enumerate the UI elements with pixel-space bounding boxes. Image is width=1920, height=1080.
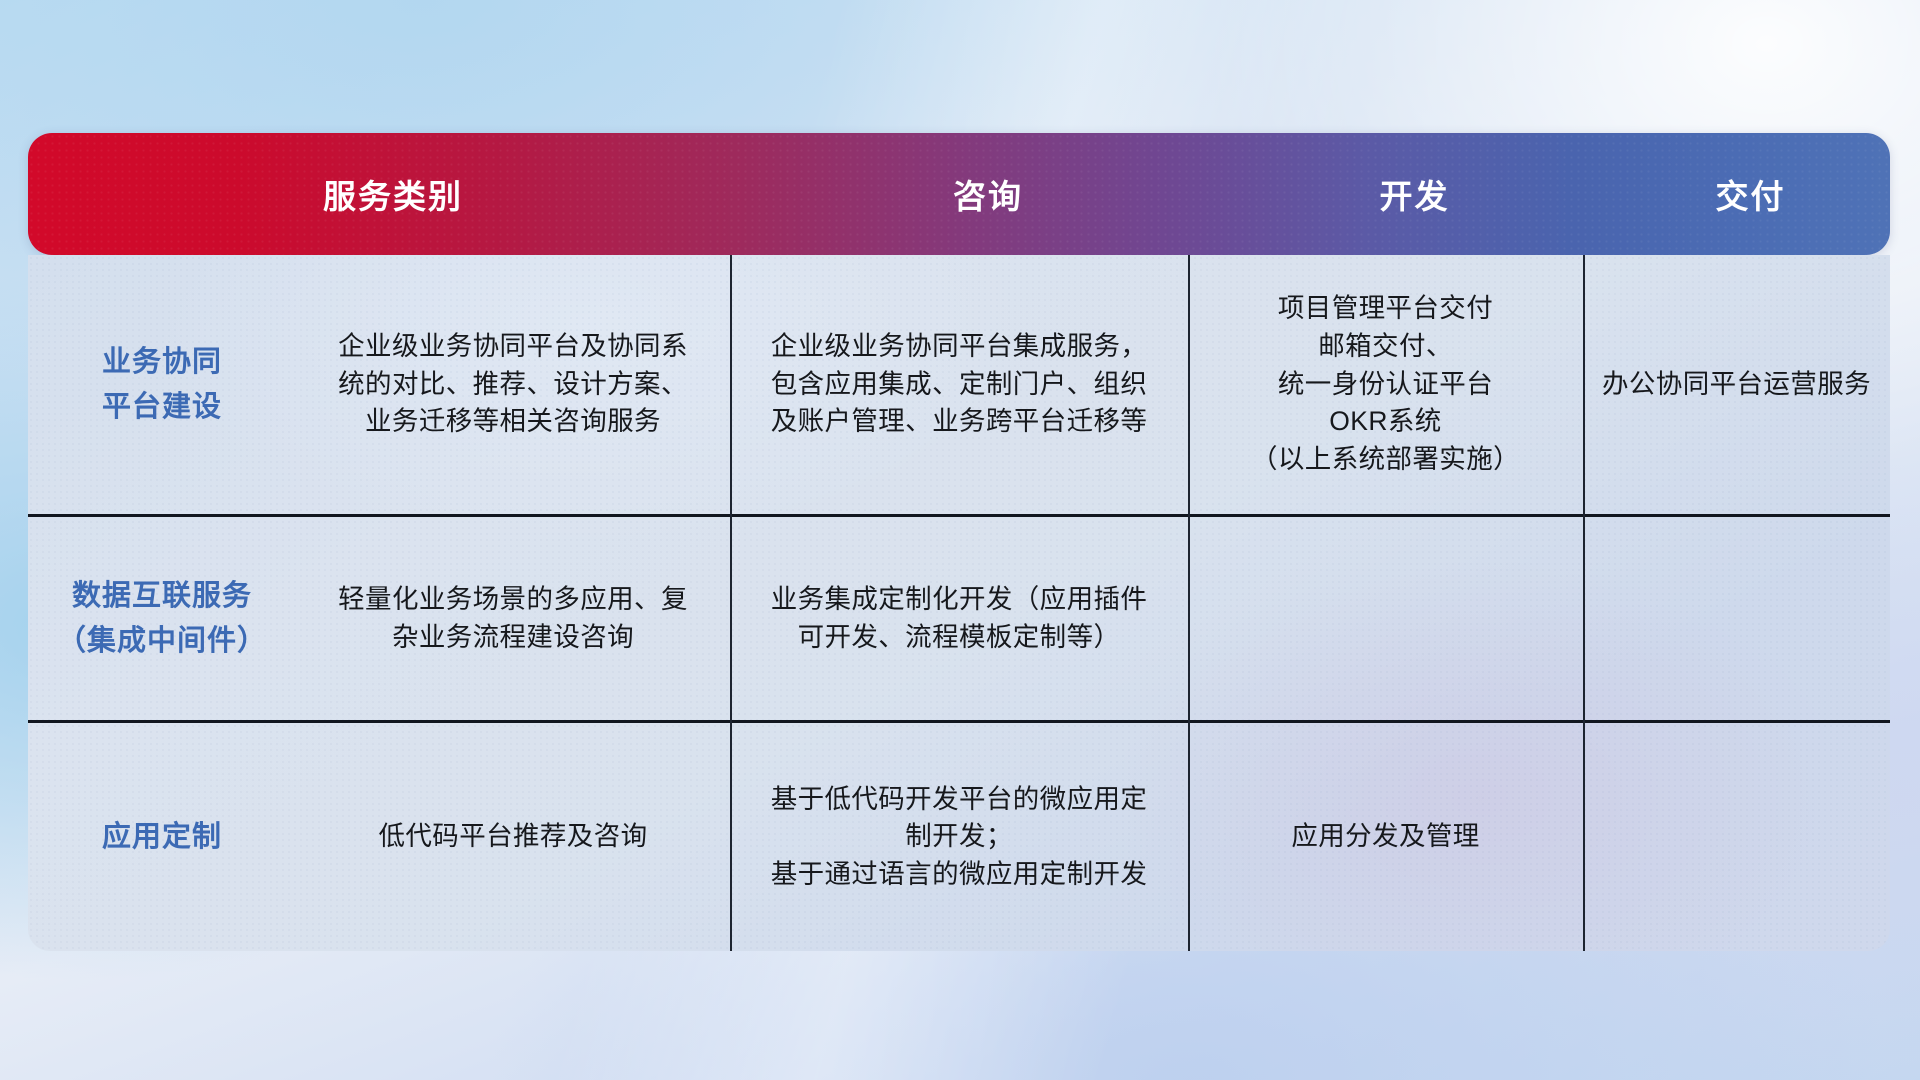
cell-consulting: 轻量化业务场景的多应用、复 杂业务流程建设咨询 (296, 517, 730, 720)
cell-consulting: 低代码平台推荐及咨询 (296, 723, 730, 951)
row-category-label: 业务协同 平台建设 (102, 340, 222, 428)
cell-operations: 办公协同平台运营服务 (1583, 255, 1890, 514)
column-header-delivery: 交付 (1611, 170, 1890, 218)
service-matrix-table: 服务类别 咨询 开发 交付 业务协同 平台建设 企业级业务协同平台及协同系 统的… (28, 133, 1890, 951)
cell-text: 轻量化业务场景的多应用、复 杂业务流程建设咨询 (338, 581, 688, 656)
cell-delivery (1188, 517, 1583, 720)
cell-text: 办公协同平台运营服务 (1602, 366, 1871, 404)
row-category-label: 应用定制 (102, 815, 222, 859)
cell-operations (1583, 517, 1890, 720)
table-body: 业务协同 平台建设 企业级业务协同平台及协同系 统的对比、推荐、设计方案、 业务… (28, 255, 1890, 951)
cell-consulting: 企业级业务协同平台及协同系 统的对比、推荐、设计方案、 业务迁移等相关咨询服务 (296, 255, 730, 514)
cell-development: 基于低代码开发平台的微应用定 制开发； 基于通过语言的微应用定制开发 (730, 723, 1188, 951)
cell-operations (1583, 723, 1890, 951)
cell-text: 企业级业务协同平台集成服务， 包含应用集成、定制门户、组织 及账户管理、业务跨平… (771, 328, 1148, 441)
table-row: 业务协同 平台建设 (28, 255, 296, 514)
cell-development: 业务集成定制化开发（应用插件 可开发、流程模板定制等） (730, 517, 1188, 720)
column-header-category: 服务类别 (28, 170, 758, 218)
column-header-development: 开发 (1218, 170, 1611, 218)
cell-text: 业务集成定制化开发（应用插件 可开发、流程模板定制等） (771, 581, 1148, 656)
cell-development: 企业级业务协同平台集成服务， 包含应用集成、定制门户、组织 及账户管理、业务跨平… (730, 255, 1188, 514)
cell-text: 应用分发及管理 (1291, 818, 1479, 856)
cell-delivery: 应用分发及管理 (1188, 723, 1583, 951)
cell-text: 项目管理平台交付 邮箱交付、 统一身份认证平台 OKR系统 （以上系统部署实施） (1251, 290, 1520, 478)
cell-text: 企业级业务协同平台及协同系 统的对比、推荐、设计方案、 业务迁移等相关咨询服务 (338, 328, 688, 441)
table-row: 应用定制 (28, 723, 296, 951)
cell-text: 低代码平台推荐及咨询 (379, 818, 648, 856)
cell-delivery: 项目管理平台交付 邮箱交付、 统一身份认证平台 OKR系统 （以上系统部署实施） (1188, 255, 1583, 514)
table-header-bar: 服务类别 咨询 开发 交付 (28, 133, 1890, 255)
table-row: 数据互联服务 （集成中间件） (28, 517, 296, 720)
row-category-label: 数据互联服务 （集成中间件） (57, 574, 267, 662)
column-header-consulting: 咨询 (758, 170, 1218, 218)
cell-text: 基于低代码开发平台的微应用定 制开发； 基于通过语言的微应用定制开发 (771, 781, 1148, 894)
